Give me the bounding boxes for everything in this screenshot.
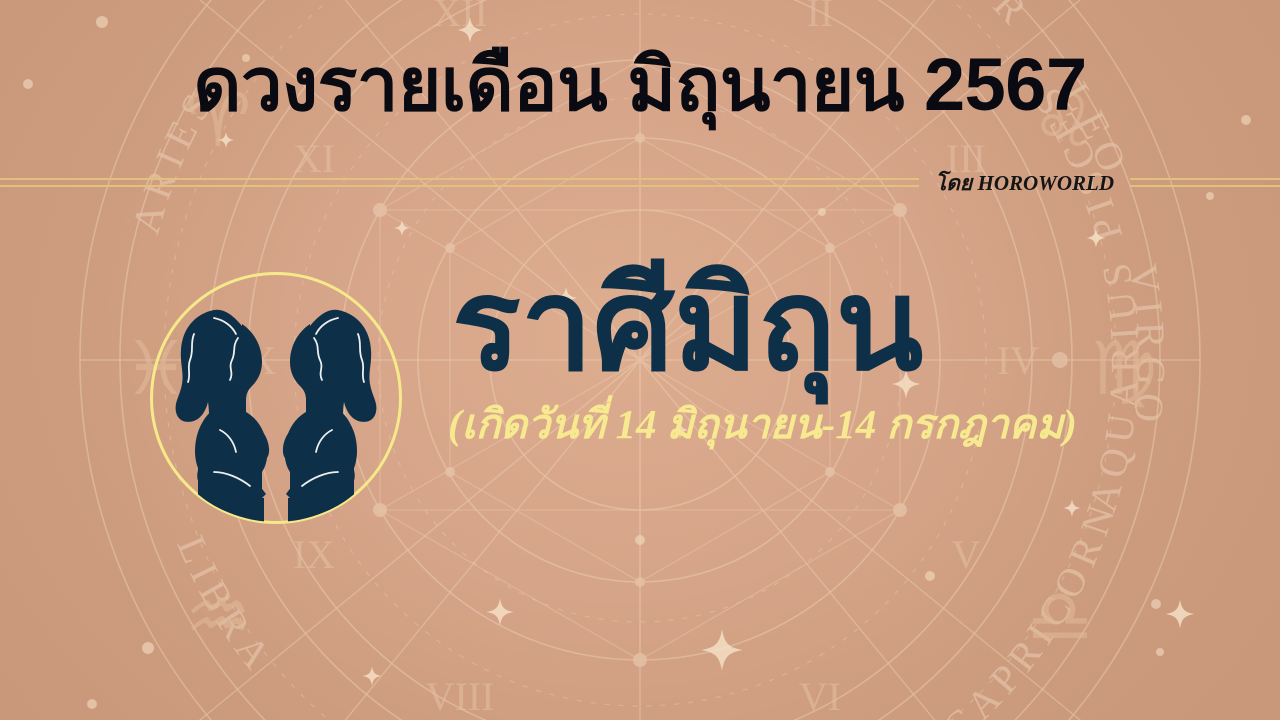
zodiac-date-range: (เกิดวันที่ 14 มิถุนายน-14 กรกฎาคม): [430, 402, 1170, 447]
svg-text:V: V: [952, 532, 981, 577]
poster-header: ดวงรายเดือน มิถุนายน 2567 โดย HOROWORLD: [0, 0, 1280, 200]
gemini-twins-icon: [150, 272, 402, 524]
byline-text: โดย HOROWORLD: [919, 167, 1130, 200]
svg-text:VIII: VIII: [426, 674, 495, 719]
svg-text:LIBRA: LIBRA: [168, 529, 283, 682]
page-title: ดวงรายเดือน มิถุนายน 2567: [0, 46, 1280, 124]
svg-text:VI: VI: [799, 674, 841, 719]
poster-canvas: ARIES TAURUS GEMINI CANCER LEO VIRGO LIB…: [0, 0, 1280, 720]
zodiac-sign-name: ราศีมิถุน: [430, 262, 1170, 390]
svg-text:CAPRICORN: CAPRICORN: [934, 493, 1126, 720]
divider-line-left: [0, 178, 919, 187]
svg-text:♒: ♒: [185, 574, 251, 660]
svg-text:SCORPIO: SCORPIO: [317, 716, 525, 720]
byline-divider: โดย HOROWORLD: [0, 163, 1280, 201]
sign-info-block: ราศีมิถุน (เกิดวันที่ 14 มิถุนายน-14 กรก…: [430, 262, 1170, 447]
svg-text:IX: IX: [293, 532, 335, 577]
divider-line-right: [1130, 178, 1280, 187]
gemini-emblem: [150, 272, 402, 524]
svg-text:♎: ♎: [1027, 574, 1093, 660]
